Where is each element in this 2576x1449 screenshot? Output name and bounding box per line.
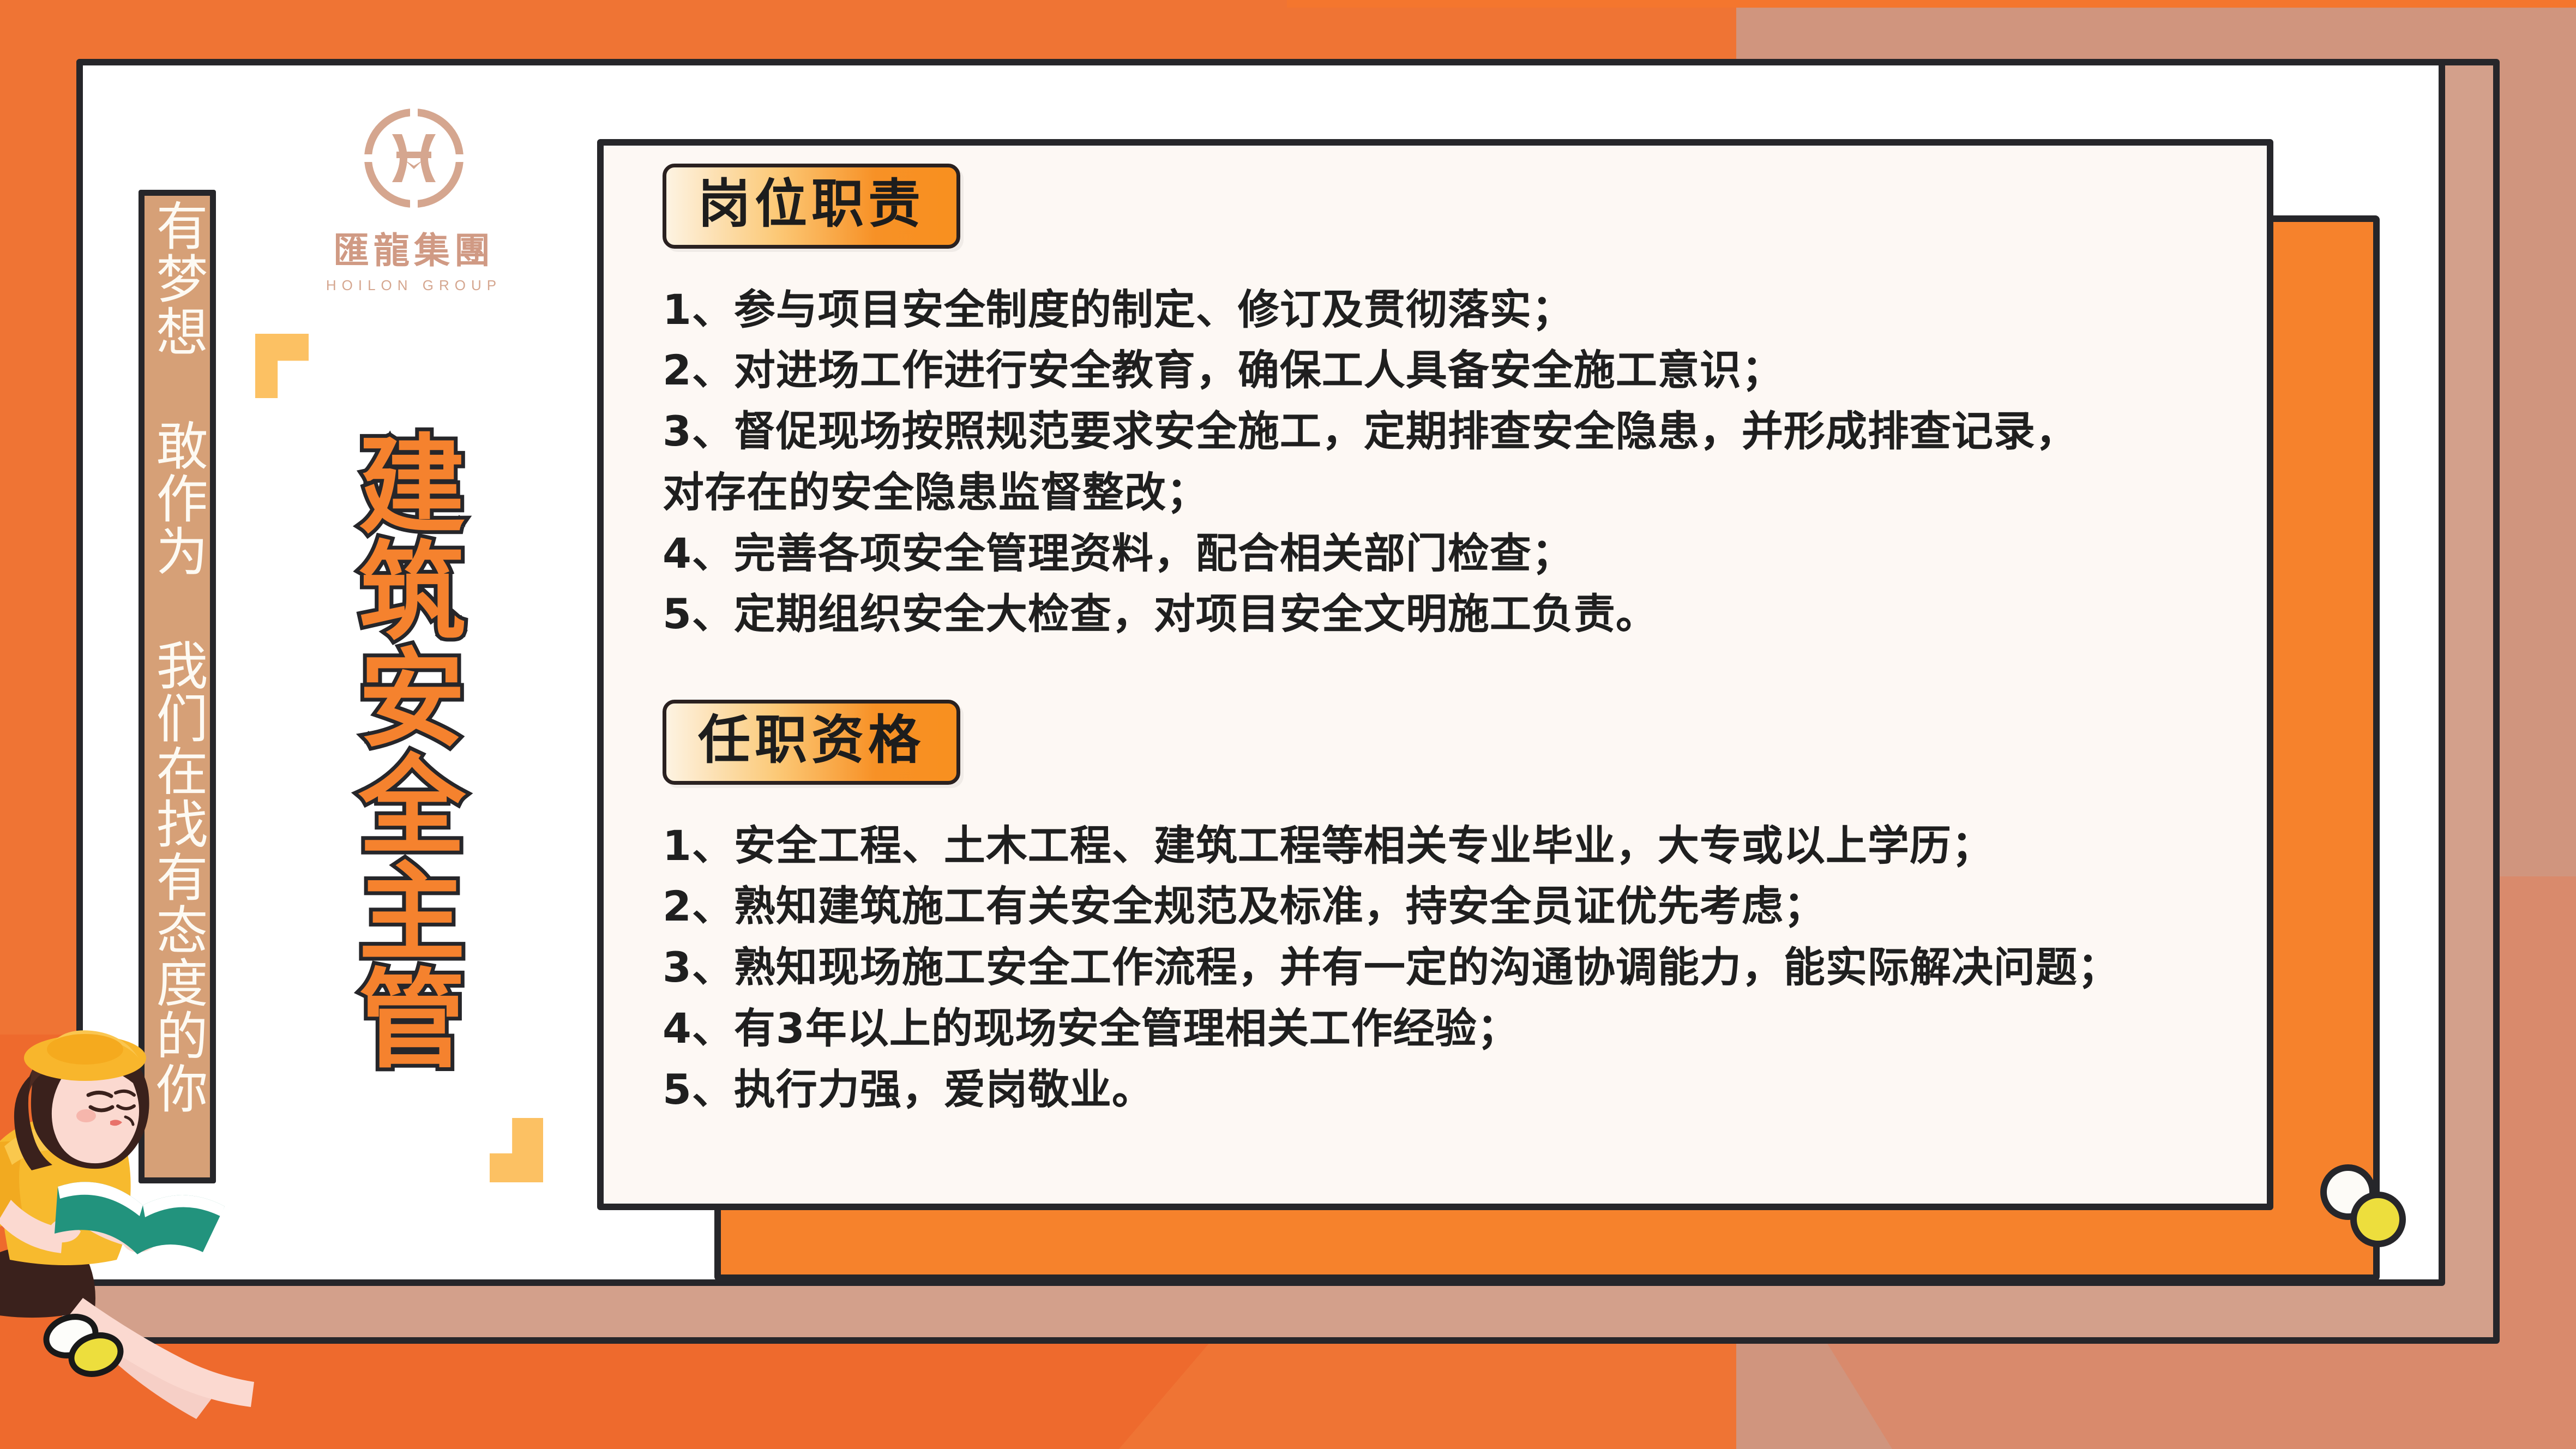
hoilon-monogram-icon — [359, 104, 468, 213]
badge-quals-wrap: 任职资格 — [663, 700, 2120, 785]
duties-line-5: 4、完善各项安全管理资料，配合相关部门检查； — [663, 523, 2078, 584]
quals-line-5: 5、执行力强，爱岗敬业。 — [663, 1059, 2120, 1120]
badge-duties-wrap: 岗位职责 — [663, 164, 2078, 249]
quals-line-1: 1、安全工程、土木工程、建筑工程等相关专业毕业，大专或以上学历； — [663, 815, 2120, 876]
duties-line-3: 3、督促现场按照规范要求安全施工，定期排查安全隐患，并形成排查记录， — [663, 401, 2078, 462]
duties-line-2: 2、对进场工作进行安全教育，确保工人具备安全施工意识； — [663, 340, 2078, 401]
company-logo: 匯龍集團 HOILON GROUP — [324, 104, 504, 294]
background-top-strip — [1287, 0, 2576, 8]
duties-line-6: 5、定期组织安全大检查，对项目安全文明施工负责。 — [663, 584, 2078, 645]
section-duties: 岗位职责 1、参与项目安全制度的制定、修订及贯彻落实； 2、对进场工作进行安全教… — [663, 164, 2078, 645]
recruitment-poster: 匯龍集團 HOILON GROUP 有梦想 敢作为 我们在找有态度的你 建筑安全… — [0, 0, 2576, 1449]
badge-qualifications: 任职资格 — [663, 700, 960, 785]
duties-lines: 1、参与项目安全制度的制定、修订及贯彻落实； 2、对进场工作进行安全教育，确保工… — [663, 279, 2078, 645]
job-title: 建筑安全主管 — [321, 429, 457, 1070]
badge-duties: 岗位职责 — [663, 164, 960, 249]
yellow-circle-decoration — [2350, 1192, 2406, 1247]
slogan-text: 有梦想 敢作为 我们在找有态度的你 — [151, 196, 204, 1115]
quals-line-4: 4、有3年以上的现场安全管理相关工作经验； — [663, 998, 2120, 1059]
logo-name-cn: 匯龍集團 — [324, 221, 504, 274]
duties-line-1: 1、参与项目安全制度的制定、修订及贯彻落实； — [663, 279, 2078, 340]
quals-lines: 1、安全工程、土木工程、建筑工程等相关专业毕业，大专或以上学历； 2、熟知建筑施… — [663, 815, 2120, 1120]
quals-line-2: 2、熟知建筑施工有关安全规范及标准，持安全员证优先考虑； — [663, 876, 2120, 937]
logo-name-en: HOILON GROUP — [324, 277, 504, 294]
woman-reading-illustration — [0, 1025, 327, 1449]
duties-line-4: 对存在的安全隐患监督整改； — [663, 462, 2078, 523]
section-qualifications: 任职资格 1、安全工程、土木工程、建筑工程等相关专业毕业，大专或以上学历； 2、… — [663, 700, 2120, 1120]
quals-line-3: 3、熟知现场施工安全工作流程，并有一定的沟通协调能力，能实际解决问题； — [663, 937, 2120, 998]
